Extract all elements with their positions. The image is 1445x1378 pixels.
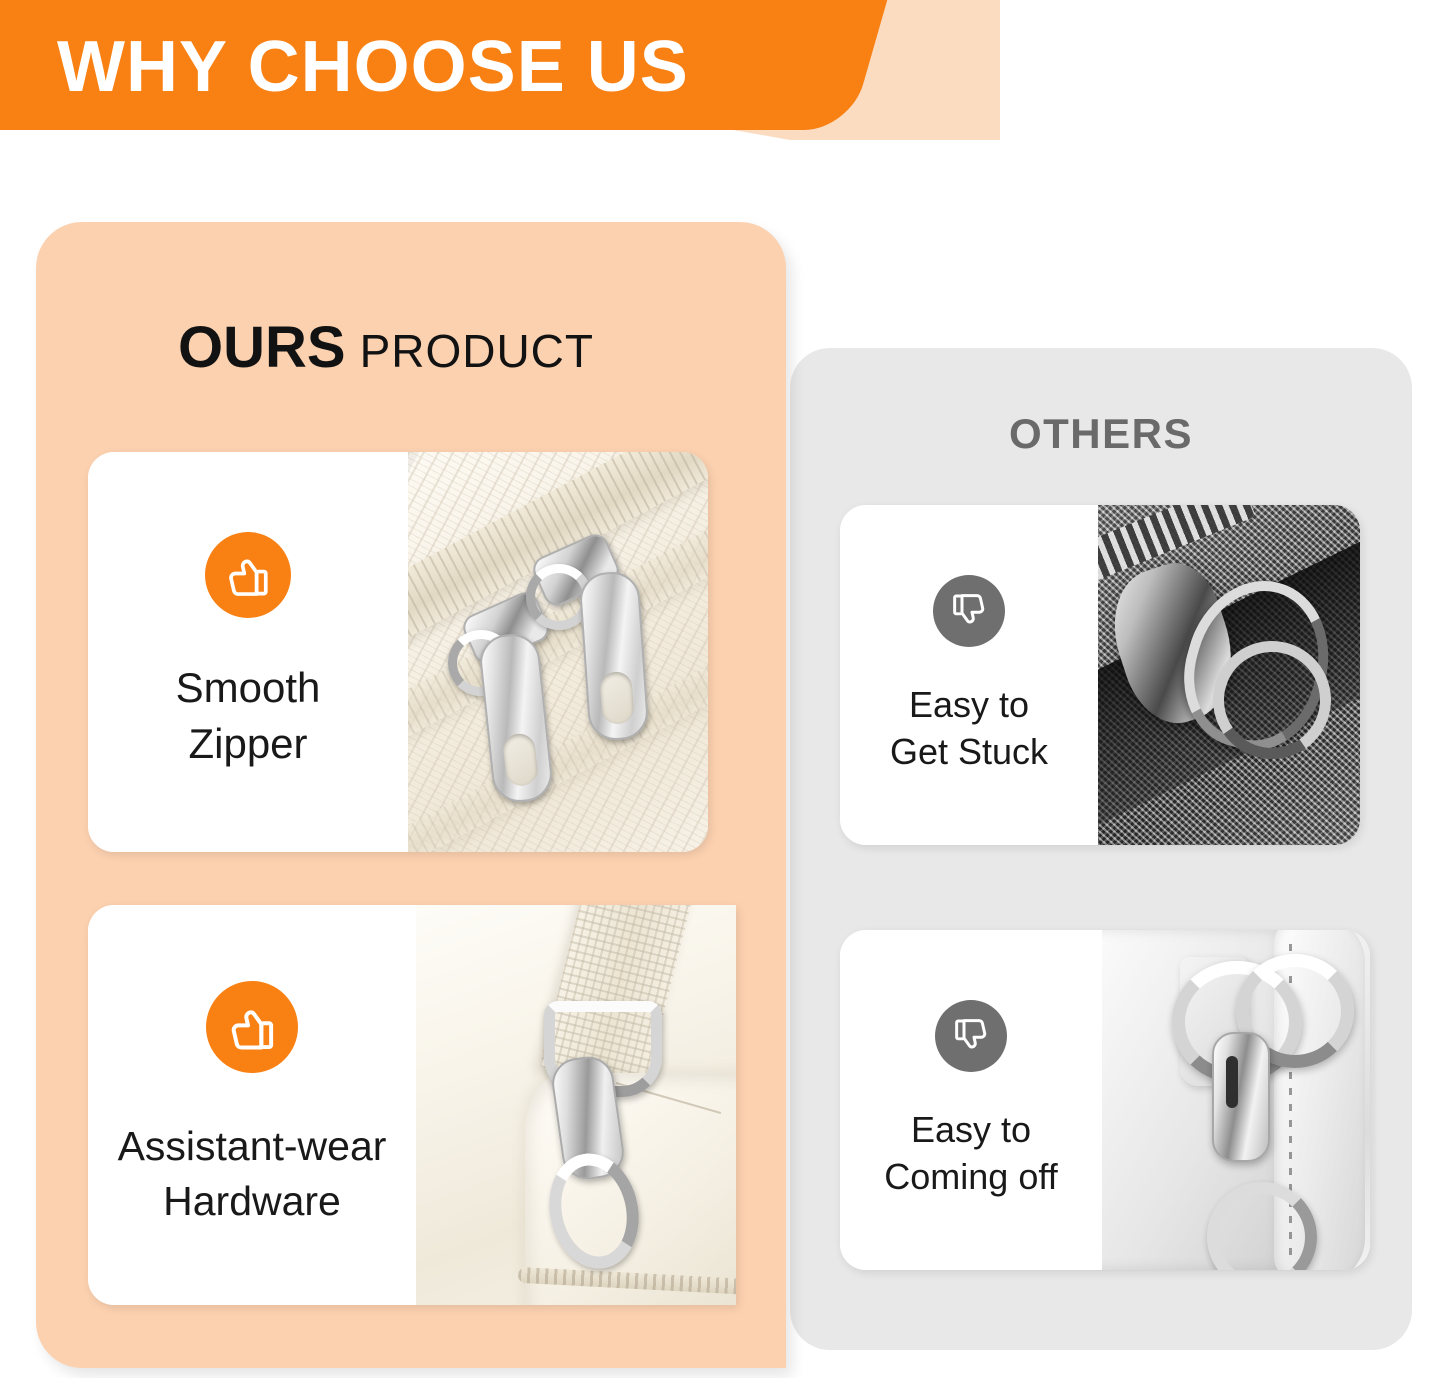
ours-card-2-label: Assistant-wear Hardware (118, 1119, 387, 1229)
ours-card-1-label: Smooth Zipper (176, 660, 321, 772)
others-card-get-stuck[interactable]: Easy to Get Stuck (840, 505, 1360, 845)
ours-heading: OURSPRODUCT (36, 316, 736, 395)
ours-card-1-text-side: Smooth Zipper (88, 452, 408, 852)
ours-heading-strong: OURS (178, 315, 346, 380)
cream-bag-strap-clip-photo (416, 905, 736, 1305)
others-card-1-text-side: Easy to Get Stuck (840, 505, 1098, 845)
ours-card-assistant-wear-hardware[interactable]: Assistant-wear Hardware (88, 905, 736, 1305)
gray-woven-fabric-stuck-zipper-photo (1098, 505, 1360, 845)
others-card-2-text-side: Easy to Coming off (840, 930, 1102, 1270)
header-banner: WHY CHOOSE US (0, 0, 1445, 185)
thumbs-down-icon (933, 575, 1005, 647)
others-heading: OTHERS (790, 409, 1412, 459)
ours-card-smooth-zipper[interactable]: Smooth Zipper (88, 452, 708, 852)
others-card-2-label: Easy to Coming off (884, 1106, 1057, 1200)
thumbs-up-icon (206, 981, 298, 1073)
others-card-coming-off[interactable]: Easy to Coming off (840, 930, 1370, 1270)
why-choose-us-infographic: WHY CHOOSE US OTHERS Easy to Get Stuck (0, 0, 1445, 1378)
ours-card-2-text-side: Assistant-wear Hardware (88, 905, 416, 1305)
cream-zipper-pulls-photo (408, 452, 708, 852)
others-card-1-label: Easy to Get Stuck (890, 681, 1048, 775)
banner-title: WHY CHOOSE US (57, 24, 817, 110)
ours-heading-light: PRODUCT (360, 325, 594, 377)
thumbs-up-icon (205, 532, 291, 618)
gray-bag-detaching-clip-photo (1102, 930, 1370, 1270)
thumbs-down-icon (935, 1000, 1007, 1072)
